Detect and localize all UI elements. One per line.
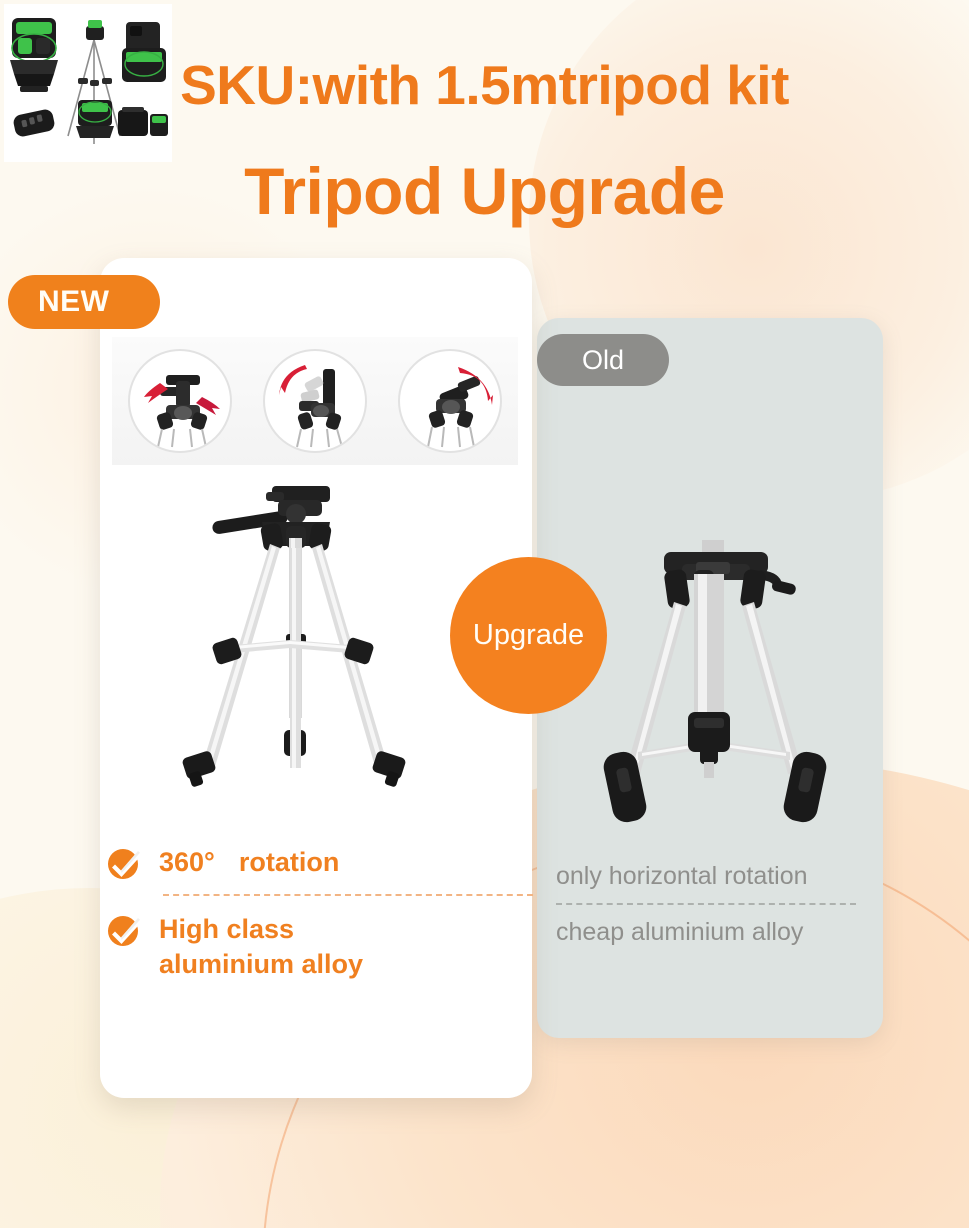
new-feature-list: 360°rotation High class aluminium alloy	[108, 843, 528, 981]
check-circle-icon	[108, 914, 141, 947]
product-thumbnail-image[interactable]	[4, 4, 172, 162]
angle-rotation-demo-icon	[398, 349, 502, 453]
rotation-demo-strip	[112, 337, 518, 465]
page-subtitle: Tripod Upgrade	[0, 158, 969, 224]
new-feature-alloy-text: High class aluminium alloy	[159, 910, 363, 981]
alloy-line-1: High class	[159, 914, 294, 944]
new-badge: NEW	[8, 275, 160, 329]
new-feature-divider	[163, 894, 533, 896]
product-marketing-page: SKU:with 1.5mtripod kit Tripod Upgrade N…	[0, 0, 969, 1228]
check-circle-icon	[108, 847, 141, 880]
old-tripod-image[interactable]	[590, 540, 840, 840]
rotation-label: rotation	[239, 847, 340, 877]
upgrade-badge: Upgrade	[450, 557, 607, 714]
new-feature-item-alloy: High class aluminium alloy	[108, 910, 528, 981]
rotation-degree-value: 360°	[159, 847, 215, 877]
tilt-rotation-demo-icon	[263, 349, 367, 453]
new-feature-rotation-text: 360°rotation	[159, 843, 339, 880]
old-feature-rotation-text: only horizontal rotation	[556, 860, 886, 893]
horizontal-rotation-demo-icon	[128, 349, 232, 453]
old-feature-divider	[556, 903, 856, 905]
alloy-line-2: aluminium alloy	[159, 949, 363, 979]
old-feature-alloy-text: cheap aluminium alloy	[556, 916, 886, 949]
new-feature-item-rotation: 360°rotation	[108, 843, 528, 880]
old-badge: Old	[537, 334, 669, 386]
new-tripod-image[interactable]	[150, 472, 440, 827]
old-feature-list: only horizontal rotation cheap aluminium…	[556, 860, 886, 948]
